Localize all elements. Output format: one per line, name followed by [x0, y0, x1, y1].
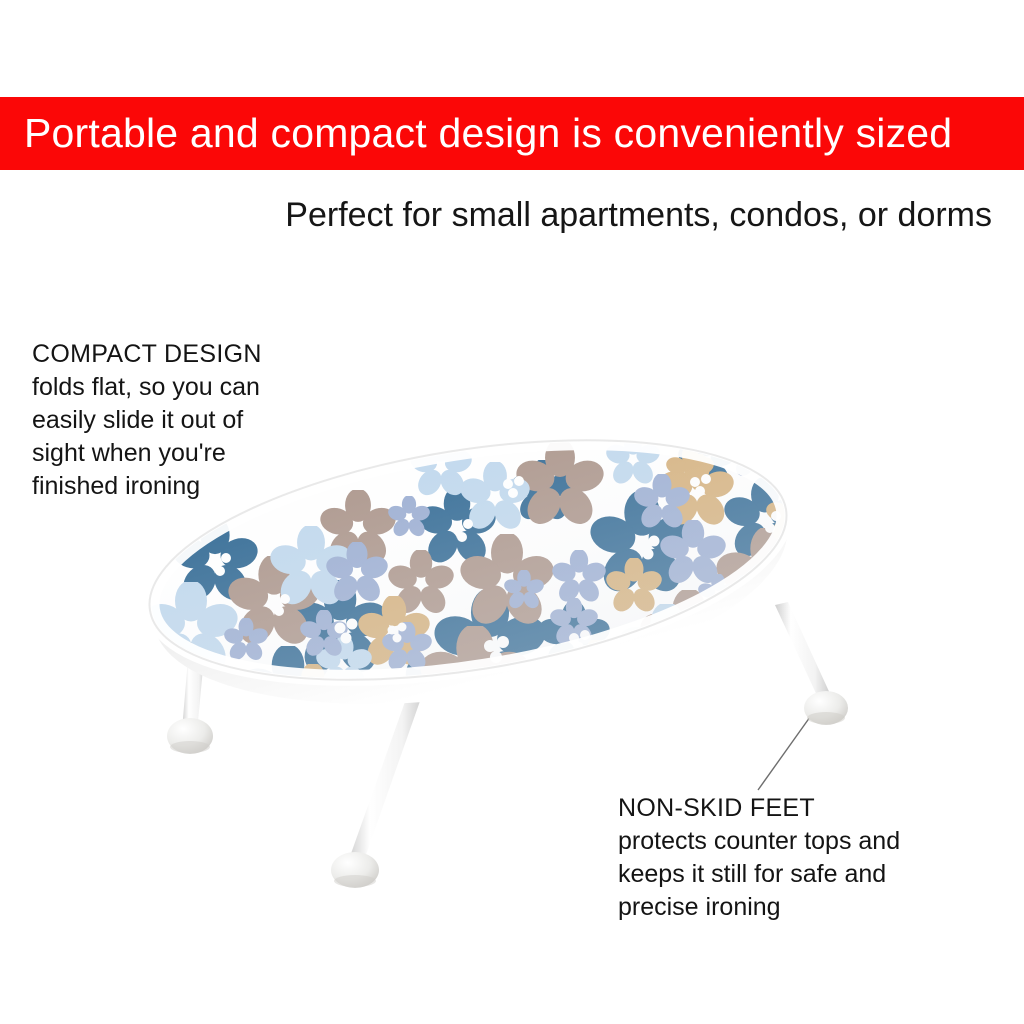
- tabletop-ironing-board: [120, 430, 880, 900]
- foot-shadow-left: [170, 741, 210, 753]
- headline-banner: Portable and compact design is convenien…: [0, 97, 1024, 170]
- ironing-board-cover: [120, 430, 880, 745]
- leg-right: [775, 602, 832, 702]
- leg-front-center: [348, 682, 426, 866]
- product-feature-image: Portable and compact design is convenien…: [0, 0, 1024, 1024]
- foot-shadow-front: [334, 875, 376, 887]
- subtitle-text: Perfect for small apartments, condos, or…: [285, 196, 992, 235]
- foot-shadow-right: [807, 712, 845, 724]
- headline-banner-text: Portable and compact design is convenien…: [0, 113, 952, 154]
- callout-compact-design-headline: COMPACT DESIGN: [32, 338, 362, 371]
- non-skid-feet-group: [167, 691, 848, 888]
- callout-compact-design-line-1: folds flat, so you can: [32, 371, 362, 404]
